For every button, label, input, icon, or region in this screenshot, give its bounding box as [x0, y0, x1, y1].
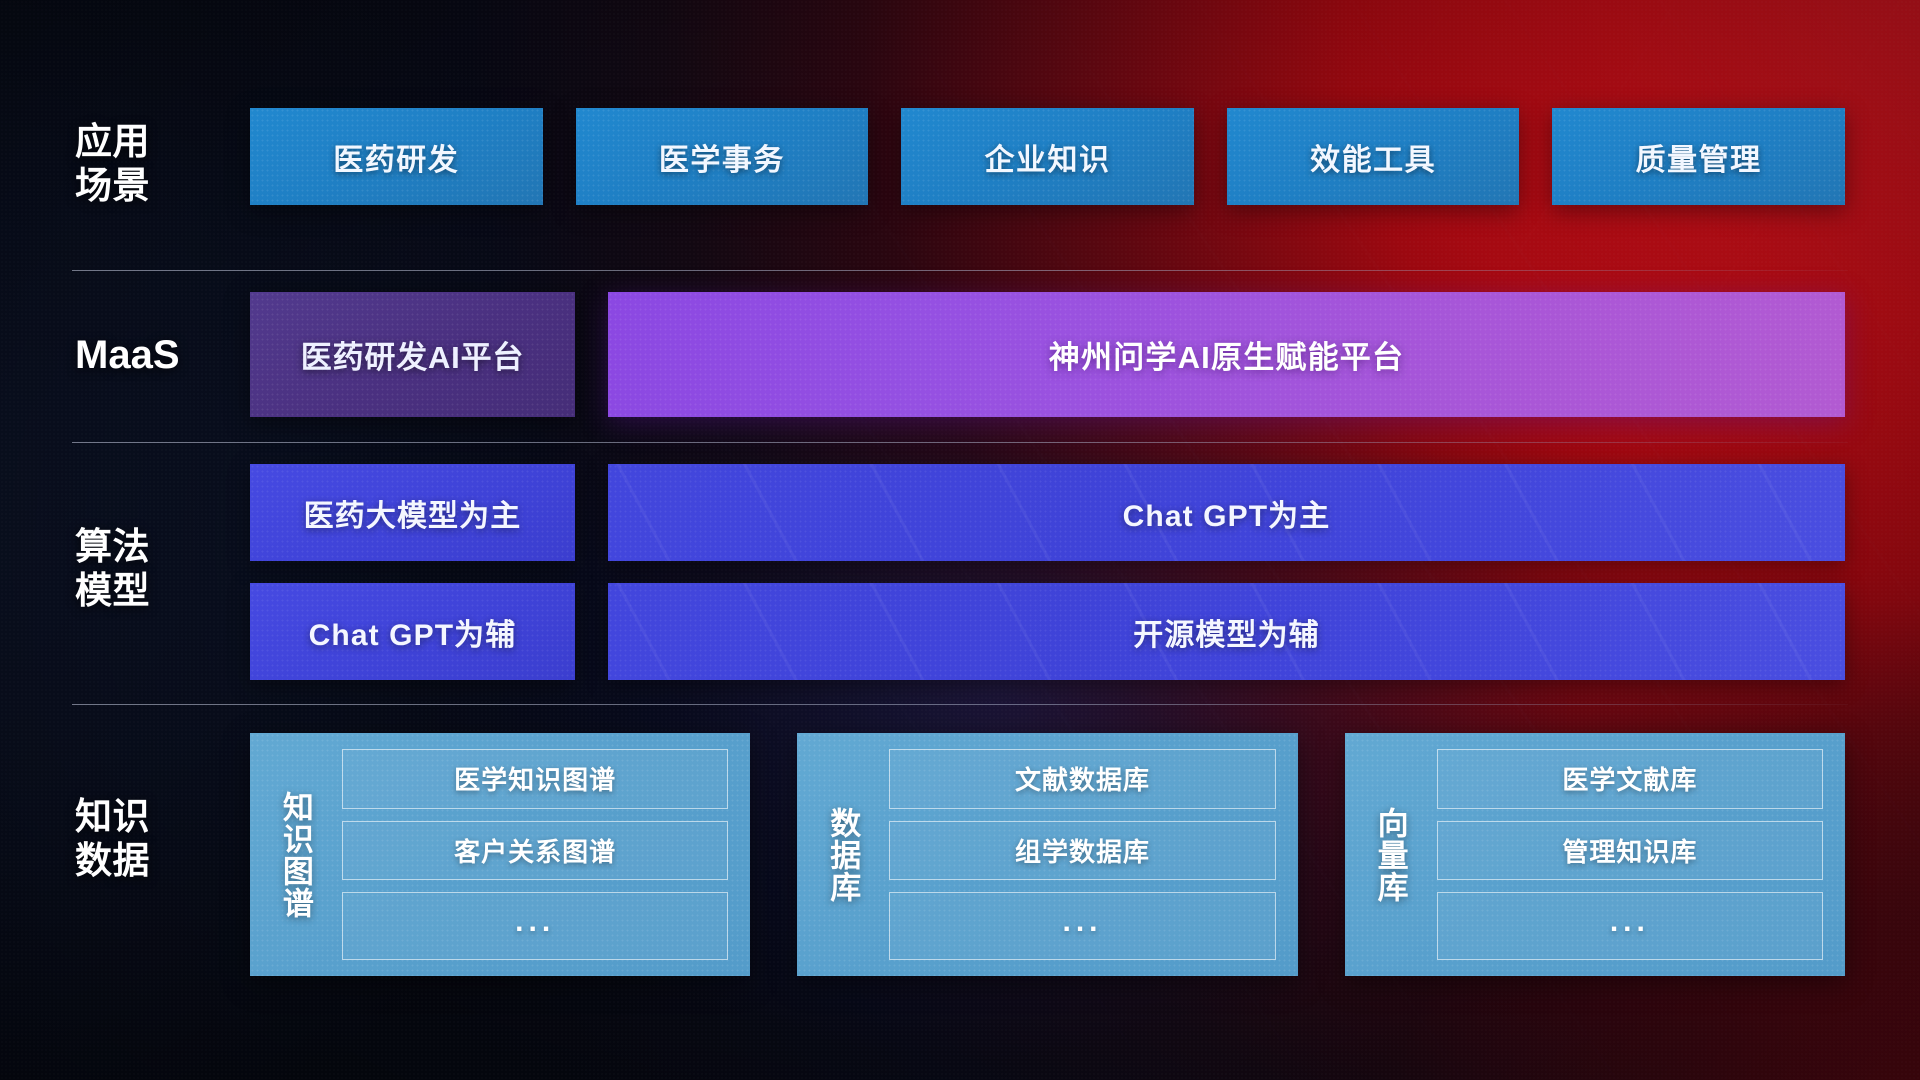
knowledge-card-vertical-label: 数据库 [813, 749, 871, 960]
algo-box-label: 医药大模型为主 [304, 491, 522, 535]
knowledge-card-items: 医学知识图谱 客户关系图谱 ... [324, 749, 728, 960]
tier-label-knowledge-data: 知识 数据 [75, 795, 250, 882]
algo-box-label: Chat GPT为主 [1123, 491, 1331, 535]
knowledge-card-knowledge-graph[interactable]: 知识图谱 医学知识图谱 客户关系图谱 ... [250, 733, 750, 976]
maas-box-shenzhou-wenxue-platform[interactable]: 神州问学AI原生赋能平台 [608, 292, 1845, 417]
knowledge-pill-label: 管理知识库 [1562, 832, 1697, 869]
knowledge-card-database[interactable]: 数据库 文献数据库 组学数据库 ... [797, 733, 1297, 976]
knowledge-pill-medical-literature-store[interactable]: 医学文献库 [1437, 749, 1823, 809]
maas-row: 医药研发AI平台 神州问学AI原生赋能平台 [250, 292, 1845, 417]
knowledge-pill-label: 文献数据库 [1015, 760, 1150, 797]
diagram-content: 应用 场景 医药研发 医学事务 企业知识 效能工具 质量管理 MaaS 医药研发… [0, 0, 1920, 1080]
maas-box-label: 医药研发AI平台 [301, 332, 524, 377]
architecture-diagram-canvas: 应用 场景 医药研发 医学事务 企业知识 效能工具 质量管理 MaaS 医药研发… [0, 0, 1920, 1080]
app-box-quality-management[interactable]: 质量管理 [1552, 108, 1845, 205]
tier-label-algorithm-model: 算法 模型 [75, 525, 250, 612]
maas-box-label: 神州问学AI原生赋能平台 [1049, 332, 1404, 377]
knowledge-card-vector-store[interactable]: 向量库 医学文献库 管理知识库 ... [1345, 733, 1845, 976]
knowledge-card-items: 文献数据库 组学数据库 ... [871, 749, 1275, 960]
app-box-label: 效能工具 [1310, 135, 1436, 179]
app-box-label: 质量管理 [1636, 135, 1762, 179]
divider-maas-algorithm [72, 442, 1848, 443]
app-box-label: 医药研发 [333, 135, 459, 179]
knowledge-pill-label: 组学数据库 [1015, 832, 1150, 869]
knowledge-pill-more[interactable]: ... [342, 892, 728, 960]
knowledge-pill-label: 医学文献库 [1562, 760, 1697, 797]
algorithm-primary-row: 医药大模型为主 Chat GPT为主 [250, 464, 1845, 561]
knowledge-pill-more[interactable]: ... [889, 892, 1275, 960]
algo-box-opensource-secondary[interactable]: 开源模型为辅 [608, 583, 1845, 680]
algo-box-pharma-llm-primary[interactable]: 医药大模型为主 [250, 464, 575, 561]
maas-box-pharma-ai-platform[interactable]: 医药研发AI平台 [250, 292, 575, 417]
knowledge-pill-medical-knowledge-graph[interactable]: 医学知识图谱 [342, 749, 728, 809]
knowledge-data-row: 知识图谱 医学知识图谱 客户关系图谱 ... 数据库 [250, 733, 1845, 976]
knowledge-pill-label: ... [515, 905, 555, 939]
app-box-enterprise-knowledge[interactable]: 企业知识 [901, 108, 1194, 205]
tier-label-maas: MaaS [75, 332, 250, 379]
knowledge-pill-more[interactable]: ... [1437, 892, 1823, 960]
tier-label-application-scenario: 应用 场景 [75, 120, 250, 207]
app-box-medicine-rd[interactable]: 医药研发 [250, 108, 543, 205]
divider-algorithm-knowledge [72, 704, 1848, 705]
knowledge-card-items: 医学文献库 管理知识库 ... [1419, 749, 1823, 960]
app-box-medical-affairs[interactable]: 医学事务 [576, 108, 869, 205]
algorithm-secondary-row: Chat GPT为辅 开源模型为辅 [250, 583, 1845, 680]
algorithm-model-row: 医药大模型为主 Chat GPT为主 Chat GPT为辅 开源模型为辅 [250, 464, 1845, 680]
knowledge-pill-label: ... [1610, 905, 1650, 939]
algo-box-label: 开源模型为辅 [1133, 610, 1320, 654]
algo-box-chatgpt-secondary[interactable]: Chat GPT为辅 [250, 583, 575, 680]
algo-box-label: Chat GPT为辅 [309, 610, 517, 654]
knowledge-card-vertical-label: 向量库 [1361, 749, 1419, 960]
knowledge-pill-label: 医学知识图谱 [454, 760, 616, 797]
knowledge-pill-omics-database[interactable]: 组学数据库 [889, 821, 1275, 881]
app-box-efficiency-tools[interactable]: 效能工具 [1227, 108, 1520, 205]
knowledge-pill-customer-relation-graph[interactable]: 客户关系图谱 [342, 821, 728, 881]
knowledge-pill-literature-database[interactable]: 文献数据库 [889, 749, 1275, 809]
divider-application-maas [72, 270, 1848, 271]
app-box-label: 医学事务 [659, 135, 785, 179]
knowledge-pill-management-knowledge-store[interactable]: 管理知识库 [1437, 821, 1823, 881]
knowledge-pill-label: 客户关系图谱 [454, 832, 616, 869]
algo-box-chatgpt-primary[interactable]: Chat GPT为主 [608, 464, 1845, 561]
app-box-label: 企业知识 [984, 135, 1110, 179]
knowledge-card-vertical-label: 知识图谱 [266, 749, 324, 960]
knowledge-pill-label: ... [1062, 905, 1102, 939]
application-scenario-row: 医药研发 医学事务 企业知识 效能工具 质量管理 [250, 108, 1845, 205]
